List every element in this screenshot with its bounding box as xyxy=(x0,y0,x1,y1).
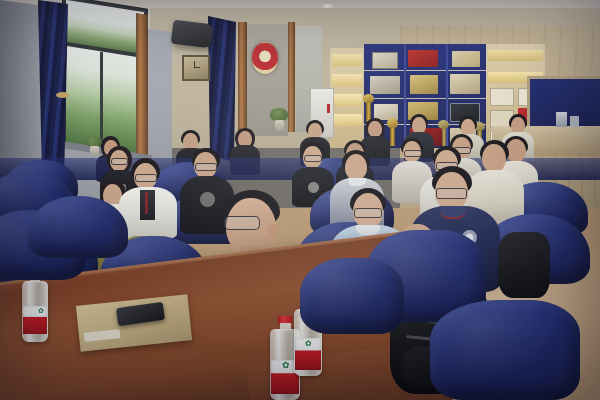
curtain-left xyxy=(38,0,68,182)
wood-pillar-left xyxy=(136,13,148,155)
shelf-glow xyxy=(332,54,362,66)
leaf-icon: ✿ xyxy=(282,362,290,369)
award-plaque xyxy=(408,50,438,67)
lanyard xyxy=(145,192,148,214)
shelf-glow xyxy=(332,74,362,86)
wall-speaker-icon xyxy=(171,20,214,49)
seat-back xyxy=(28,196,128,258)
glasses-icon xyxy=(304,155,322,162)
window-mullion xyxy=(100,52,103,148)
auditorium-seat[interactable] xyxy=(28,196,128,258)
glasses-icon xyxy=(195,163,217,171)
cabinet-side-unit-handle xyxy=(327,104,330,113)
award-plaque xyxy=(372,52,398,69)
water-bottle[interactable]: ✿ xyxy=(22,270,48,342)
wall-clock-icon xyxy=(182,55,210,81)
ear xyxy=(268,224,278,238)
potted-plant xyxy=(270,108,288,132)
award-plaque xyxy=(410,75,438,94)
cabinet-divider xyxy=(446,44,448,148)
leaf-icon: ✿ xyxy=(305,340,312,347)
trophy-icon xyxy=(363,94,374,103)
cabinet-shelf xyxy=(364,70,486,71)
glasses-icon xyxy=(135,174,157,182)
shelf-glow xyxy=(332,94,362,106)
head xyxy=(345,154,367,180)
glasses-icon xyxy=(354,208,382,218)
award-plaque xyxy=(450,74,480,94)
auditorium-seat[interactable] xyxy=(430,300,580,400)
backpack[interactable] xyxy=(498,232,550,298)
award-plaque xyxy=(370,76,400,94)
glasses-icon xyxy=(436,188,467,199)
head xyxy=(368,121,382,137)
shelf-glow xyxy=(332,114,362,126)
seat-back xyxy=(300,258,404,334)
curtain-tieback xyxy=(56,92,69,98)
clock-hand xyxy=(194,67,200,68)
certificate xyxy=(490,88,514,106)
glasses-icon xyxy=(224,216,260,230)
cabinet-shelf xyxy=(364,98,486,99)
collar xyxy=(348,178,366,186)
plant-pot xyxy=(275,120,284,131)
trophy-icon xyxy=(438,120,449,129)
shelf-glow xyxy=(488,50,543,61)
wood-pillar-right xyxy=(288,22,295,132)
wall-emblem-icon xyxy=(252,42,278,74)
counter-item xyxy=(556,112,567,127)
auditorium-seat[interactable] xyxy=(300,258,404,334)
award-plaque xyxy=(452,51,480,67)
wood-pillar-centre xyxy=(238,22,247,138)
leaf-icon: ✿ xyxy=(38,308,44,315)
seat-back xyxy=(430,300,580,400)
collar xyxy=(440,206,466,219)
photo-scene: ✿ ✿ ✿ xyxy=(0,0,600,400)
counter-item xyxy=(570,116,579,127)
